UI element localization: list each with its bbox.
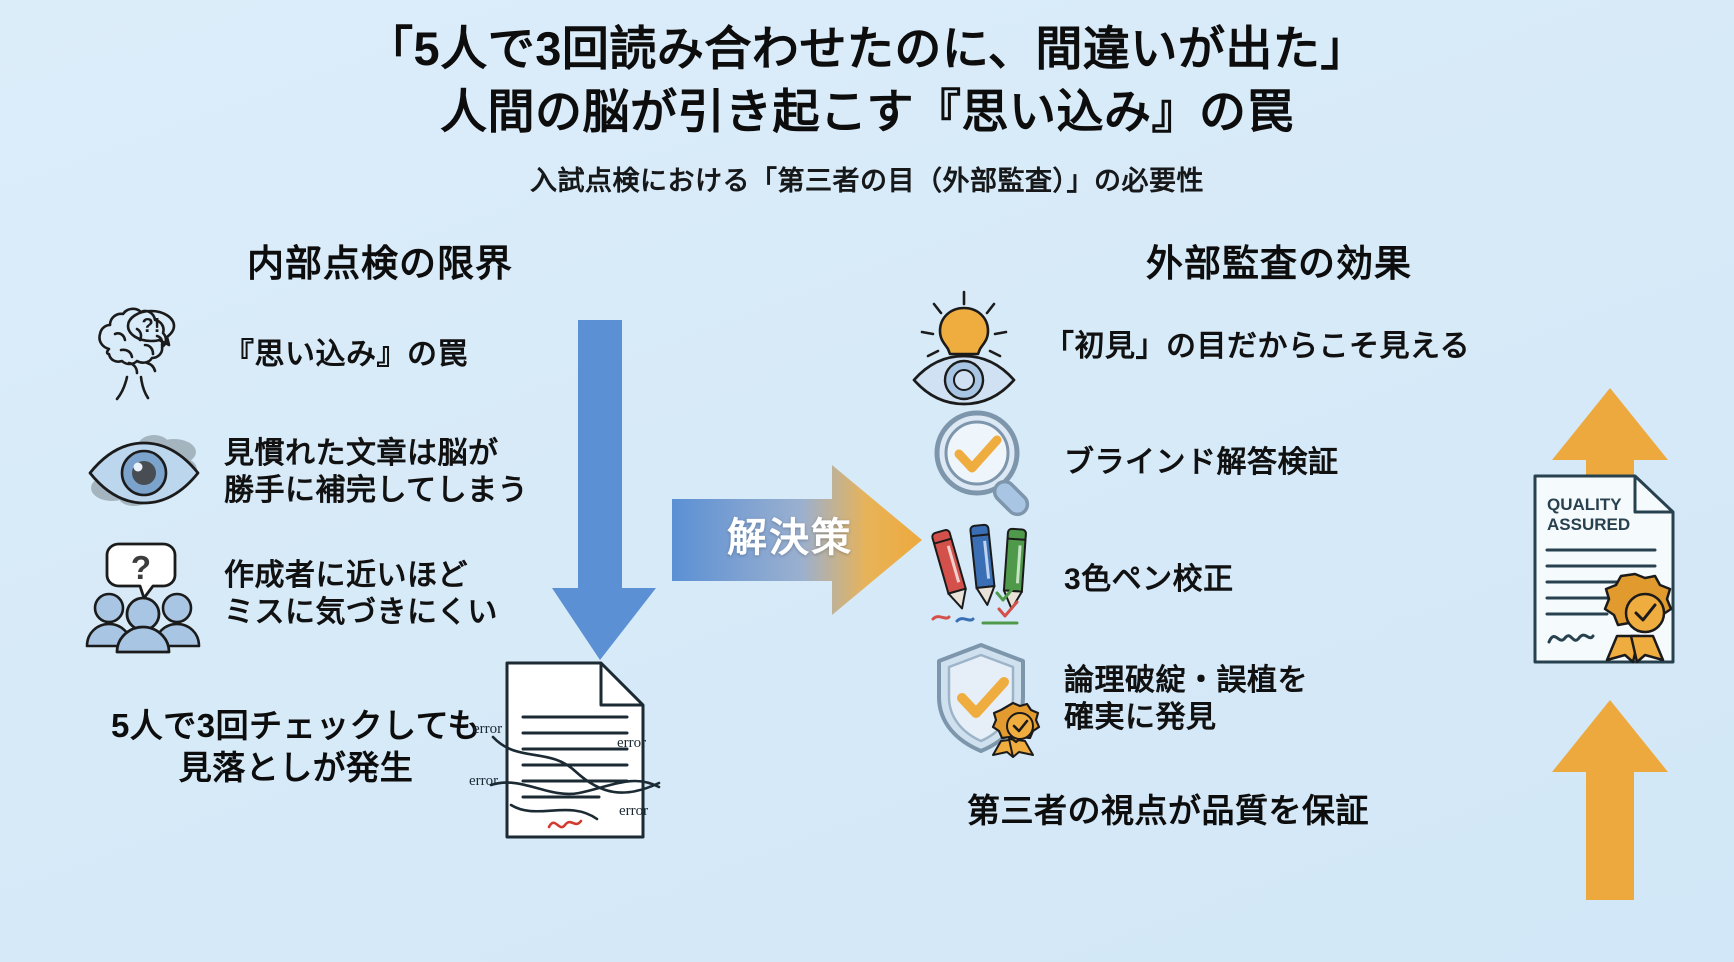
quality-assured-certificate-icon: QUALITY ASSURED [1525,470,1700,670]
right-item-3-label: 3色ペン校正 [1064,562,1234,599]
left-item-2-label: 見慣れた文章は脳が 勝手に補完してしまう [224,436,528,509]
left-item-2: 見慣れた文章は脳が 勝手に補完してしまう [80,418,528,528]
right-item-1: 「初見」の目だからこそ見える [900,292,1470,402]
right-column-caption: 第三者の視点が品質を保証 [938,790,1398,832]
certificate-line-2: ASSURED [1547,515,1630,534]
left-column-heading: 内部点検の限界 [247,233,513,287]
shield-check-badge-icon [920,645,1048,755]
svg-text:?: ? [131,549,151,586]
page-title-line-1: 「5人で3回読み合わせたのに、間違いが出た」 [0,18,1734,81]
left-item-1: ?! 『思い込み』の罠 [80,300,468,410]
eye-blur-icon [80,418,208,528]
lightbulb-eye-icon [900,292,1028,402]
infographic-slide: 「5人で3回読み合わせたのに、間違いが出た」 人間の脳が引き起こす『思い込み』の… [0,0,1734,962]
right-item-1-label: 「初見」の目だからこそ見える [1044,329,1470,366]
solution-right-arrow [672,465,922,615]
error-document-icon: error error error error [487,655,662,845]
right-item-4: 論理破綻・誤植を 確実に発見 [920,645,1308,755]
three-color-pens-icon [920,525,1048,635]
left-item-3-label: 作成者に近いほど ミスに気づきにくい [224,558,498,631]
error-label-2: error [617,735,646,751]
left-column-caption: 5人で3回チェックしても 見落としが発生 [96,705,496,788]
right-column-heading: 外部監査の効果 [1146,233,1412,287]
right-item-2-label: ブラインド解答検証 [1064,445,1339,482]
right-item-2: ブラインド解答検証 [920,408,1339,518]
up-arrow-bottom [1530,700,1690,900]
magnifier-check-icon [920,408,1048,518]
brain-question-icon: ?! [80,300,208,410]
page-subtitle: 入試点検における「第三者の目（外部監査）」の必要性 [0,159,1734,198]
left-item-3: ? 作成者に近いほど ミスに気づきにくい [80,540,498,650]
error-label-3: error [469,773,498,789]
down-arrow [530,320,670,660]
left-item-1-label: 『思い込み』の罠 [224,337,468,374]
error-label-4: error [619,803,648,819]
certificate-line-1: QUALITY [1547,495,1622,514]
people-question-icon: ? [80,540,208,650]
error-label-1: error [473,721,502,737]
page-title-line-2: 人間の脳が引き起こす『思い込み』の罠 [0,81,1734,144]
svg-text:?!: ?! [142,315,161,337]
header: 「5人で3回読み合わせたのに、間違いが出た」 人間の脳が引き起こす『思い込み』の… [0,18,1734,198]
right-item-3: 3色ペン校正 [920,525,1234,635]
right-item-4-label: 論理破綻・誤植を 確実に発見 [1064,663,1308,736]
